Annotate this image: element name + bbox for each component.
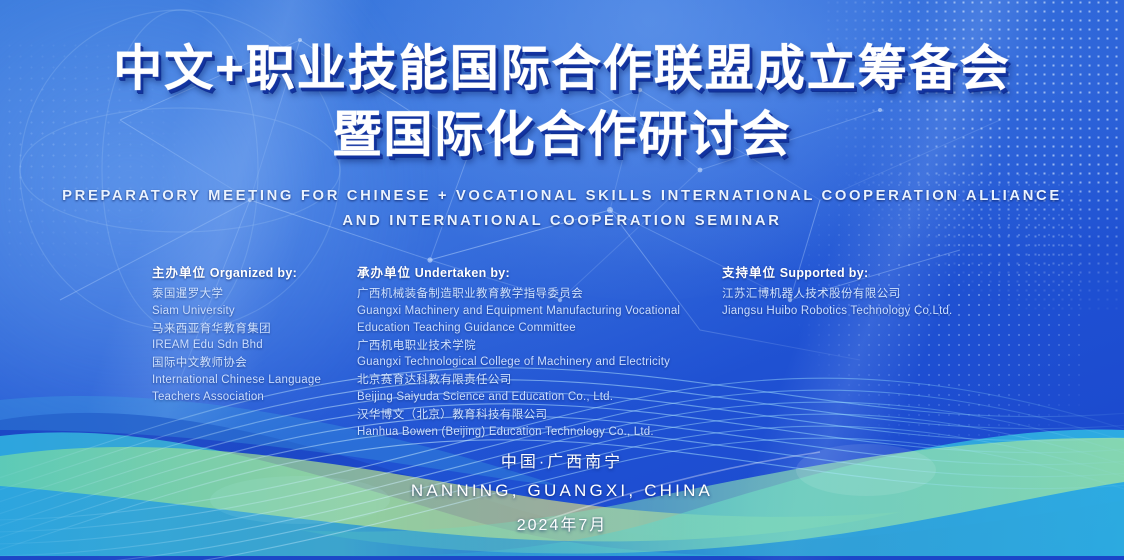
org-name-en: Hanhua Bowen (Beijing) Education Technol…: [357, 424, 722, 441]
org-column-organized-by: 主办单位 Organized by: 泰国暹罗大学 Siam Universit…: [152, 262, 357, 442]
footer-block: 中国·广西南宁 NANNING, GUANGXI, CHINA 2024年7月: [0, 448, 1124, 535]
org-heading-en: Undertaken by:: [415, 266, 510, 280]
organizations-section: 主办单位 Organized by: 泰国暹罗大学 Siam Universit…: [0, 262, 1124, 442]
org-name-en: Beijing Saiyuda Science and Education Co…: [357, 389, 722, 406]
org-item: 马来西亚育华教育集团 IREAM Edu Sdn Bhd: [152, 321, 357, 355]
org-name-cn: 广西机电职业技术学院: [357, 338, 722, 355]
org-name-en: Guangxi Machinery and Equipment Manufact…: [357, 303, 722, 337]
org-heading-cn: 主办单位: [152, 266, 206, 280]
banner-content: 中文+职业技能国际合作联盟成立筹备会 暨国际化合作研讨会 PREPARATORY…: [0, 0, 1124, 560]
org-item: 广西机电职业技术学院 Guangxi Technological College…: [357, 338, 722, 372]
org-column-undertaken-by: 承办单位 Undertaken by: 广西机械装备制造职业教育教学指导委员会 …: [357, 262, 722, 442]
org-heading-en: Organized by:: [210, 266, 297, 280]
location-cn: 中国·广西南宁: [0, 448, 1124, 472]
org-name-cn: 马来西亚育华教育集团: [152, 321, 357, 338]
org-item: 汉华博文（北京）教育科技有限公司 Hanhua Bowen (Beijing) …: [357, 407, 722, 441]
location-en: NANNING, GUANGXI, CHINA: [0, 481, 1124, 501]
org-heading: 主办单位 Organized by:: [152, 262, 357, 281]
org-heading: 支持单位 Supported by:: [722, 262, 1022, 281]
org-name-en: International Chinese Language Teachers …: [152, 372, 357, 406]
org-item: 北京赛育达科教有限责任公司 Beijing Saiyuda Science an…: [357, 372, 722, 406]
org-name-cn: 北京赛育达科教有限责任公司: [357, 372, 722, 389]
org-name-cn: 国际中文教师协会: [152, 355, 357, 372]
org-heading-en: Supported by:: [780, 266, 869, 280]
org-name-en: Siam University: [152, 303, 357, 320]
org-name-en: Guangxi Technological College of Machine…: [357, 354, 722, 371]
event-date: 2024年7月: [0, 511, 1124, 535]
org-name-cn: 汉华博文（北京）教育科技有限公司: [357, 407, 722, 424]
org-heading: 承办单位 Undertaken by:: [357, 262, 722, 281]
org-item: 国际中文教师协会 International Chinese Language …: [152, 355, 357, 406]
org-name-cn: 泰国暹罗大学: [152, 286, 357, 303]
org-name-cn: 广西机械装备制造职业教育教学指导委员会: [357, 286, 722, 303]
org-name-en: IREAM Edu Sdn Bhd: [152, 337, 357, 354]
conference-banner: 中文+职业技能国际合作联盟成立筹备会 暨国际化合作研讨会 PREPARATORY…: [0, 0, 1124, 560]
title-block: 中文+职业技能国际合作联盟成立筹备会 暨国际化合作研讨会: [0, 0, 1124, 162]
title-line-1: 中文+职业技能国际合作联盟成立筹备会: [0, 44, 1124, 96]
subtitle-line-1: PREPARATORY MEETING FOR CHINESE + VOCATI…: [0, 184, 1124, 209]
org-heading-cn: 支持单位: [722, 266, 776, 280]
org-name-en: Jiangsu Huibo Robotics Technology Co.Ltd…: [722, 303, 1022, 320]
org-item: 广西机械装备制造职业教育教学指导委员会 Guangxi Machinery an…: [357, 286, 722, 337]
org-name-cn: 江苏汇博机器人技术股份有限公司: [722, 286, 1022, 303]
org-item: 江苏汇博机器人技术股份有限公司 Jiangsu Huibo Robotics T…: [722, 286, 1022, 320]
org-heading-cn: 承办单位: [357, 266, 411, 280]
subtitle-line-2: AND INTERNATIONAL COOPERATION SEMINAR: [0, 209, 1124, 234]
org-column-supported-by: 支持单位 Supported by: 江苏汇博机器人技术股份有限公司 Jiang…: [722, 262, 1022, 442]
subtitle-block: PREPARATORY MEETING FOR CHINESE + VOCATI…: [0, 184, 1124, 235]
title-line-2: 暨国际化合作研讨会: [0, 110, 1124, 162]
org-item: 泰国暹罗大学 Siam University: [152, 286, 357, 320]
